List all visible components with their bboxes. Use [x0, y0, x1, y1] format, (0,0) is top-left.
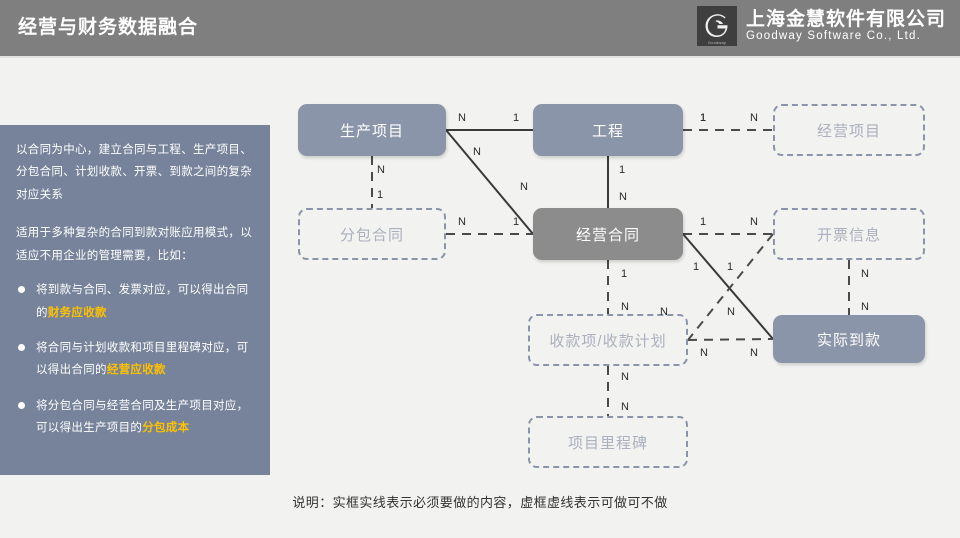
cardinality-label: N — [621, 371, 629, 383]
page-title: 经营与财务数据融合 — [18, 12, 198, 39]
cardinality-label: N — [458, 112, 466, 124]
brand-text: 上海金慧软件有限公司 Goodway Software Co., Ltd. — [746, 10, 946, 42]
cardinality-label: N — [861, 301, 869, 313]
cardinality-label: 1 — [621, 268, 627, 280]
diagram-caption: 说明：实框实线表示必须要做的内容，虚框虚线表示可做可不做 — [0, 492, 960, 511]
brand-name-en: Goodway Software Co., Ltd. — [746, 30, 946, 42]
cardinality-label: 1 — [513, 216, 519, 228]
node-label: 实际到款 — [817, 329, 881, 350]
node-label: 开票信息 — [817, 224, 881, 245]
slide: 经营与财务数据融合 Goodway 上海金慧软件有限公司 Goodway Sof… — [0, 0, 960, 538]
cardinality-label: 1 — [727, 261, 733, 273]
cardinality-label: N — [473, 146, 481, 158]
cardinality-label: 1 — [377, 189, 383, 201]
cardinality-label: N — [520, 181, 528, 193]
node-label: 工程 — [592, 120, 624, 141]
cardinality-label: N — [619, 191, 627, 203]
cardinality-label: N — [621, 401, 629, 413]
diagram-node-business_project[interactable]: 经营项目 — [773, 104, 925, 156]
cardinality-label: N — [750, 347, 758, 359]
goodway-g-icon: Goodway — [697, 6, 737, 46]
node-label: 收款项/收款计划 — [549, 330, 666, 351]
brand-name-cn: 上海金慧软件有限公司 — [746, 10, 946, 30]
cardinality-label: N — [458, 216, 466, 228]
brand-logo: Goodway 上海金慧软件有限公司 Goodway Software Co.,… — [697, 6, 946, 46]
diagram-node-subcontract[interactable]: 分包合同 — [298, 208, 446, 260]
er-diagram: 生产项目工程经营项目分包合同经营合同开票信息收款项/收款计划实际到款项目里程碑 … — [0, 56, 960, 538]
cardinality-label: 1 — [700, 216, 706, 228]
cardinality-label: N — [621, 301, 629, 313]
cardinality-label: 1 — [693, 261, 699, 273]
brand-mark-caption: Goodway — [697, 40, 737, 45]
diagram-node-actual_payment[interactable]: 实际到款 — [773, 315, 925, 363]
diagram-edge-receipt_plan-to-actual_payment — [688, 339, 773, 340]
cardinality-label: N — [750, 216, 758, 228]
cardinality-label: N — [660, 306, 668, 318]
cardinality-label: N — [700, 347, 708, 359]
cardinality-label: 1 — [619, 164, 625, 176]
node-label: 分包合同 — [340, 224, 404, 245]
cardinality-label: N — [727, 306, 735, 318]
node-label: 项目里程碑 — [568, 432, 648, 453]
cardinality-label: 1 — [513, 112, 519, 124]
cardinality-label: 1 — [700, 112, 706, 124]
node-label: 生产项目 — [340, 120, 404, 141]
diagram-node-receipt_plan[interactable]: 收款项/收款计划 — [528, 314, 688, 366]
cardinality-label: N — [750, 112, 758, 124]
diagram-node-production_project[interactable]: 生产项目 — [298, 104, 446, 156]
diagram-node-project_milestone[interactable]: 项目里程碑 — [528, 416, 688, 468]
diagram-node-invoice_info[interactable]: 开票信息 — [773, 208, 925, 260]
node-label: 经营项目 — [817, 120, 881, 141]
cardinality-label: N — [377, 164, 385, 176]
diagram-node-business_contract[interactable]: 经营合同 — [533, 208, 683, 260]
node-label: 经营合同 — [576, 224, 640, 245]
diagram-node-engineering[interactable]: 工程 — [533, 104, 683, 156]
cardinality-label: N — [861, 268, 869, 280]
